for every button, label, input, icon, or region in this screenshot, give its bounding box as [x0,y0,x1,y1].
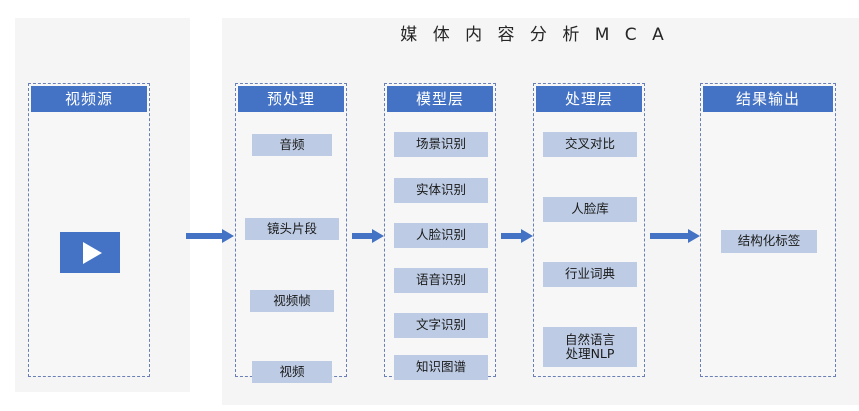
node-video-frame[interactable]: 视频帧 [250,290,334,312]
node-speech-recognition[interactable]: 语音识别 [394,268,488,293]
node-entity-recognition[interactable]: 实体识别 [394,178,488,203]
diagram-canvas: 媒 体 内 容 分 析 M C A 视频源 预处理 音频 镜头片段 视频帧 视频… [0,0,859,411]
column-header-video-source: 视频源 [31,86,147,112]
column-header-result-output: 结果输出 [703,86,833,112]
node-scene-recognition[interactable]: 场景识别 [394,132,488,157]
node-knowledge-graph[interactable]: 知识图谱 [394,355,488,380]
node-face-recognition[interactable]: 人脸识别 [394,223,488,248]
play-triangle-icon [83,242,102,264]
arrow-model-to-processing-icon [501,229,533,243]
column-items-model-layer: 场景识别 实体识别 人脸识别 语音识别 文字识别 知识图谱 [385,112,495,376]
column-result-output: 结果输出 结构化标签 [700,83,836,377]
arrow-processing-to-result-icon [650,229,700,243]
arrow-preprocessing-to-model-icon [352,229,384,243]
column-video-source: 视频源 [28,83,150,377]
column-preprocessing: 预处理 音频 镜头片段 视频帧 视频 [235,83,347,377]
node-industry-lexicon[interactable]: 行业词典 [543,262,637,287]
column-items-result-output: 结构化标签 [701,112,835,376]
column-items-video-source [29,112,149,376]
node-cross-comparison[interactable]: 交叉对比 [543,132,637,157]
column-header-preprocessing: 预处理 [238,86,344,112]
node-video[interactable]: 视频 [252,361,332,383]
node-face-database[interactable]: 人脸库 [543,197,637,222]
node-text-recognition[interactable]: 文字识别 [394,313,488,338]
column-header-model-layer: 模型层 [387,86,493,112]
column-processing-layer: 处理层 交叉对比 人脸库 行业词典 自然语言 处理NLP [533,83,645,377]
column-model-layer: 模型层 场景识别 实体识别 人脸识别 语音识别 文字识别 知识图谱 [384,83,496,377]
node-audio[interactable]: 音频 [252,134,332,156]
column-items-preprocessing: 音频 镜头片段 视频帧 视频 [236,112,346,376]
node-nlp[interactable]: 自然语言 处理NLP [543,327,637,367]
arrow-source-to-preprocessing-icon [186,229,234,243]
page-title: 媒 体 内 容 分 析 M C A [222,18,847,52]
node-shot-segment[interactable]: 镜头片段 [245,218,339,240]
node-structured-tags[interactable]: 结构化标签 [721,230,817,253]
play-icon[interactable] [60,232,120,273]
column-items-processing-layer: 交叉对比 人脸库 行业词典 自然语言 处理NLP [534,112,644,376]
column-header-processing-layer: 处理层 [536,86,642,112]
